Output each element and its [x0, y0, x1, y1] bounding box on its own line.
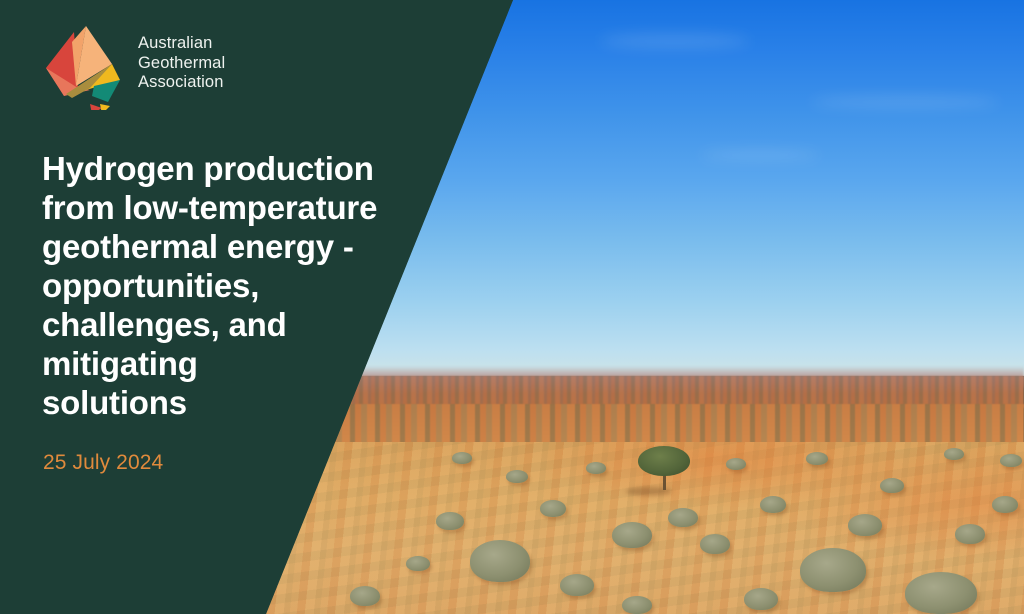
title-line-6: mitigating — [42, 344, 442, 383]
spinifex-bush — [668, 508, 698, 527]
spinifex-bush — [350, 586, 380, 606]
logo-line-1: Australian — [138, 34, 225, 54]
spinifex-bush — [612, 522, 652, 548]
logo-line-3: Association — [138, 73, 225, 93]
cloud-wisp — [600, 34, 750, 48]
spinifex-bush — [880, 478, 904, 493]
spinifex-bush — [806, 452, 828, 465]
spinifex-bush — [1000, 454, 1022, 467]
title-line-5: challenges, and — [42, 305, 442, 344]
title-line-3: geothermal energy - — [42, 227, 442, 266]
event-date: 25 July 2024 — [43, 450, 163, 476]
spinifex-bush — [992, 496, 1018, 513]
cloud-wisp — [700, 150, 820, 160]
logo-wordmark: Australian Geothermal Association — [138, 34, 225, 93]
title-line-2: from low-temperature — [42, 188, 442, 227]
spinifex-bush — [760, 496, 786, 513]
spinifex-bush — [586, 462, 606, 474]
spinifex-bush — [560, 574, 594, 596]
australia-map-triangles-icon — [42, 24, 128, 110]
spinifex-bush — [506, 470, 528, 483]
spinifex-bush — [800, 548, 866, 592]
spinifex-bush — [470, 540, 530, 582]
title-line-4: opportunities, — [42, 266, 442, 305]
spinifex-bush — [726, 458, 746, 470]
spinifex-bush — [955, 524, 985, 544]
slide-title: Hydrogen production from low-temperature… — [42, 149, 442, 422]
title-line-1: Hydrogen production — [42, 149, 442, 188]
logo-line-2: Geothermal — [138, 54, 225, 74]
title-line-7: solutions — [42, 383, 442, 422]
spinifex-bush — [406, 556, 430, 571]
presentation-title-slide: Australian Geothermal Association Hydrog… — [0, 0, 1024, 614]
tree-canopy — [638, 446, 690, 476]
spinifex-bush — [436, 512, 464, 530]
spinifex-bush — [452, 452, 472, 464]
spinifex-bush — [622, 596, 652, 614]
spinifex-bush — [848, 514, 882, 536]
spinifex-bush — [700, 534, 730, 554]
spinifex-bush — [540, 500, 566, 517]
spinifex-bush — [944, 448, 964, 460]
spinifex-bush — [905, 572, 977, 614]
cloud-wisp — [810, 96, 1000, 108]
spinifex-bush — [744, 588, 778, 610]
aga-logo[interactable]: Australian Geothermal Association — [42, 24, 292, 110]
